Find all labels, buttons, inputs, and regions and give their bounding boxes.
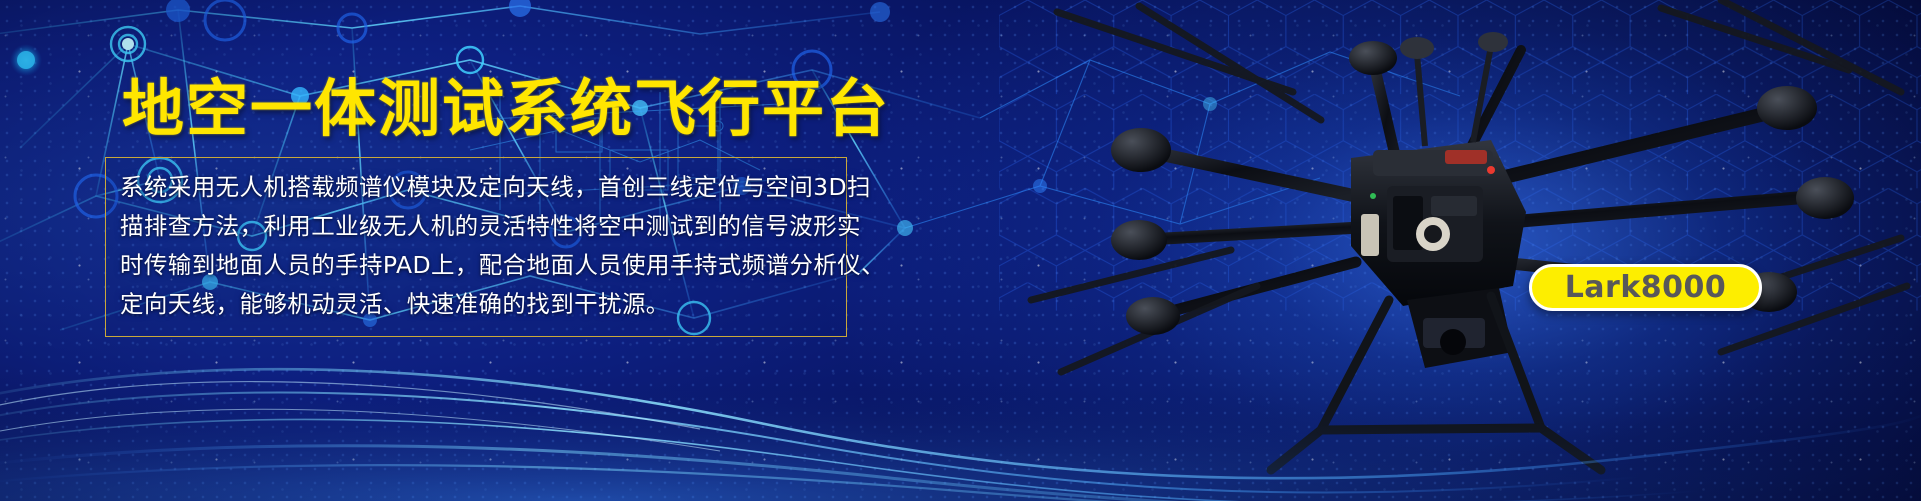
description-line: 描排查方法，利用工业级无人机的灵活特性将空中测试到的信号波形实 [120,207,830,246]
light-wave-graphic [0,311,1921,501]
product-model-label: Lark8000 [1565,270,1727,305]
description-line: 系统采用无人机搭载频谱仪模块及定向天线，首创三线定位与空间3D扫 [120,168,830,207]
product-model-badge: Lark8000 [1529,264,1762,311]
product-banner: 地空一体测试系统飞行平台 系统采用无人机搭载频谱仪模块及定向天线，首创三线定位与… [0,0,1921,501]
description-line: 定向天线，能够机动灵活、快速准确的找到干扰源。 [120,285,830,324]
page-title: 地空一体测试系统飞行平台 [122,78,890,140]
description-box: 系统采用无人机搭载频谱仪模块及定向天线，首创三线定位与空间3D扫 描排查方法，利… [105,157,847,337]
description-line: 时传输到地面人员的手持PAD上，配合地面人员使用手持式频谱分析仪、 [120,246,830,285]
